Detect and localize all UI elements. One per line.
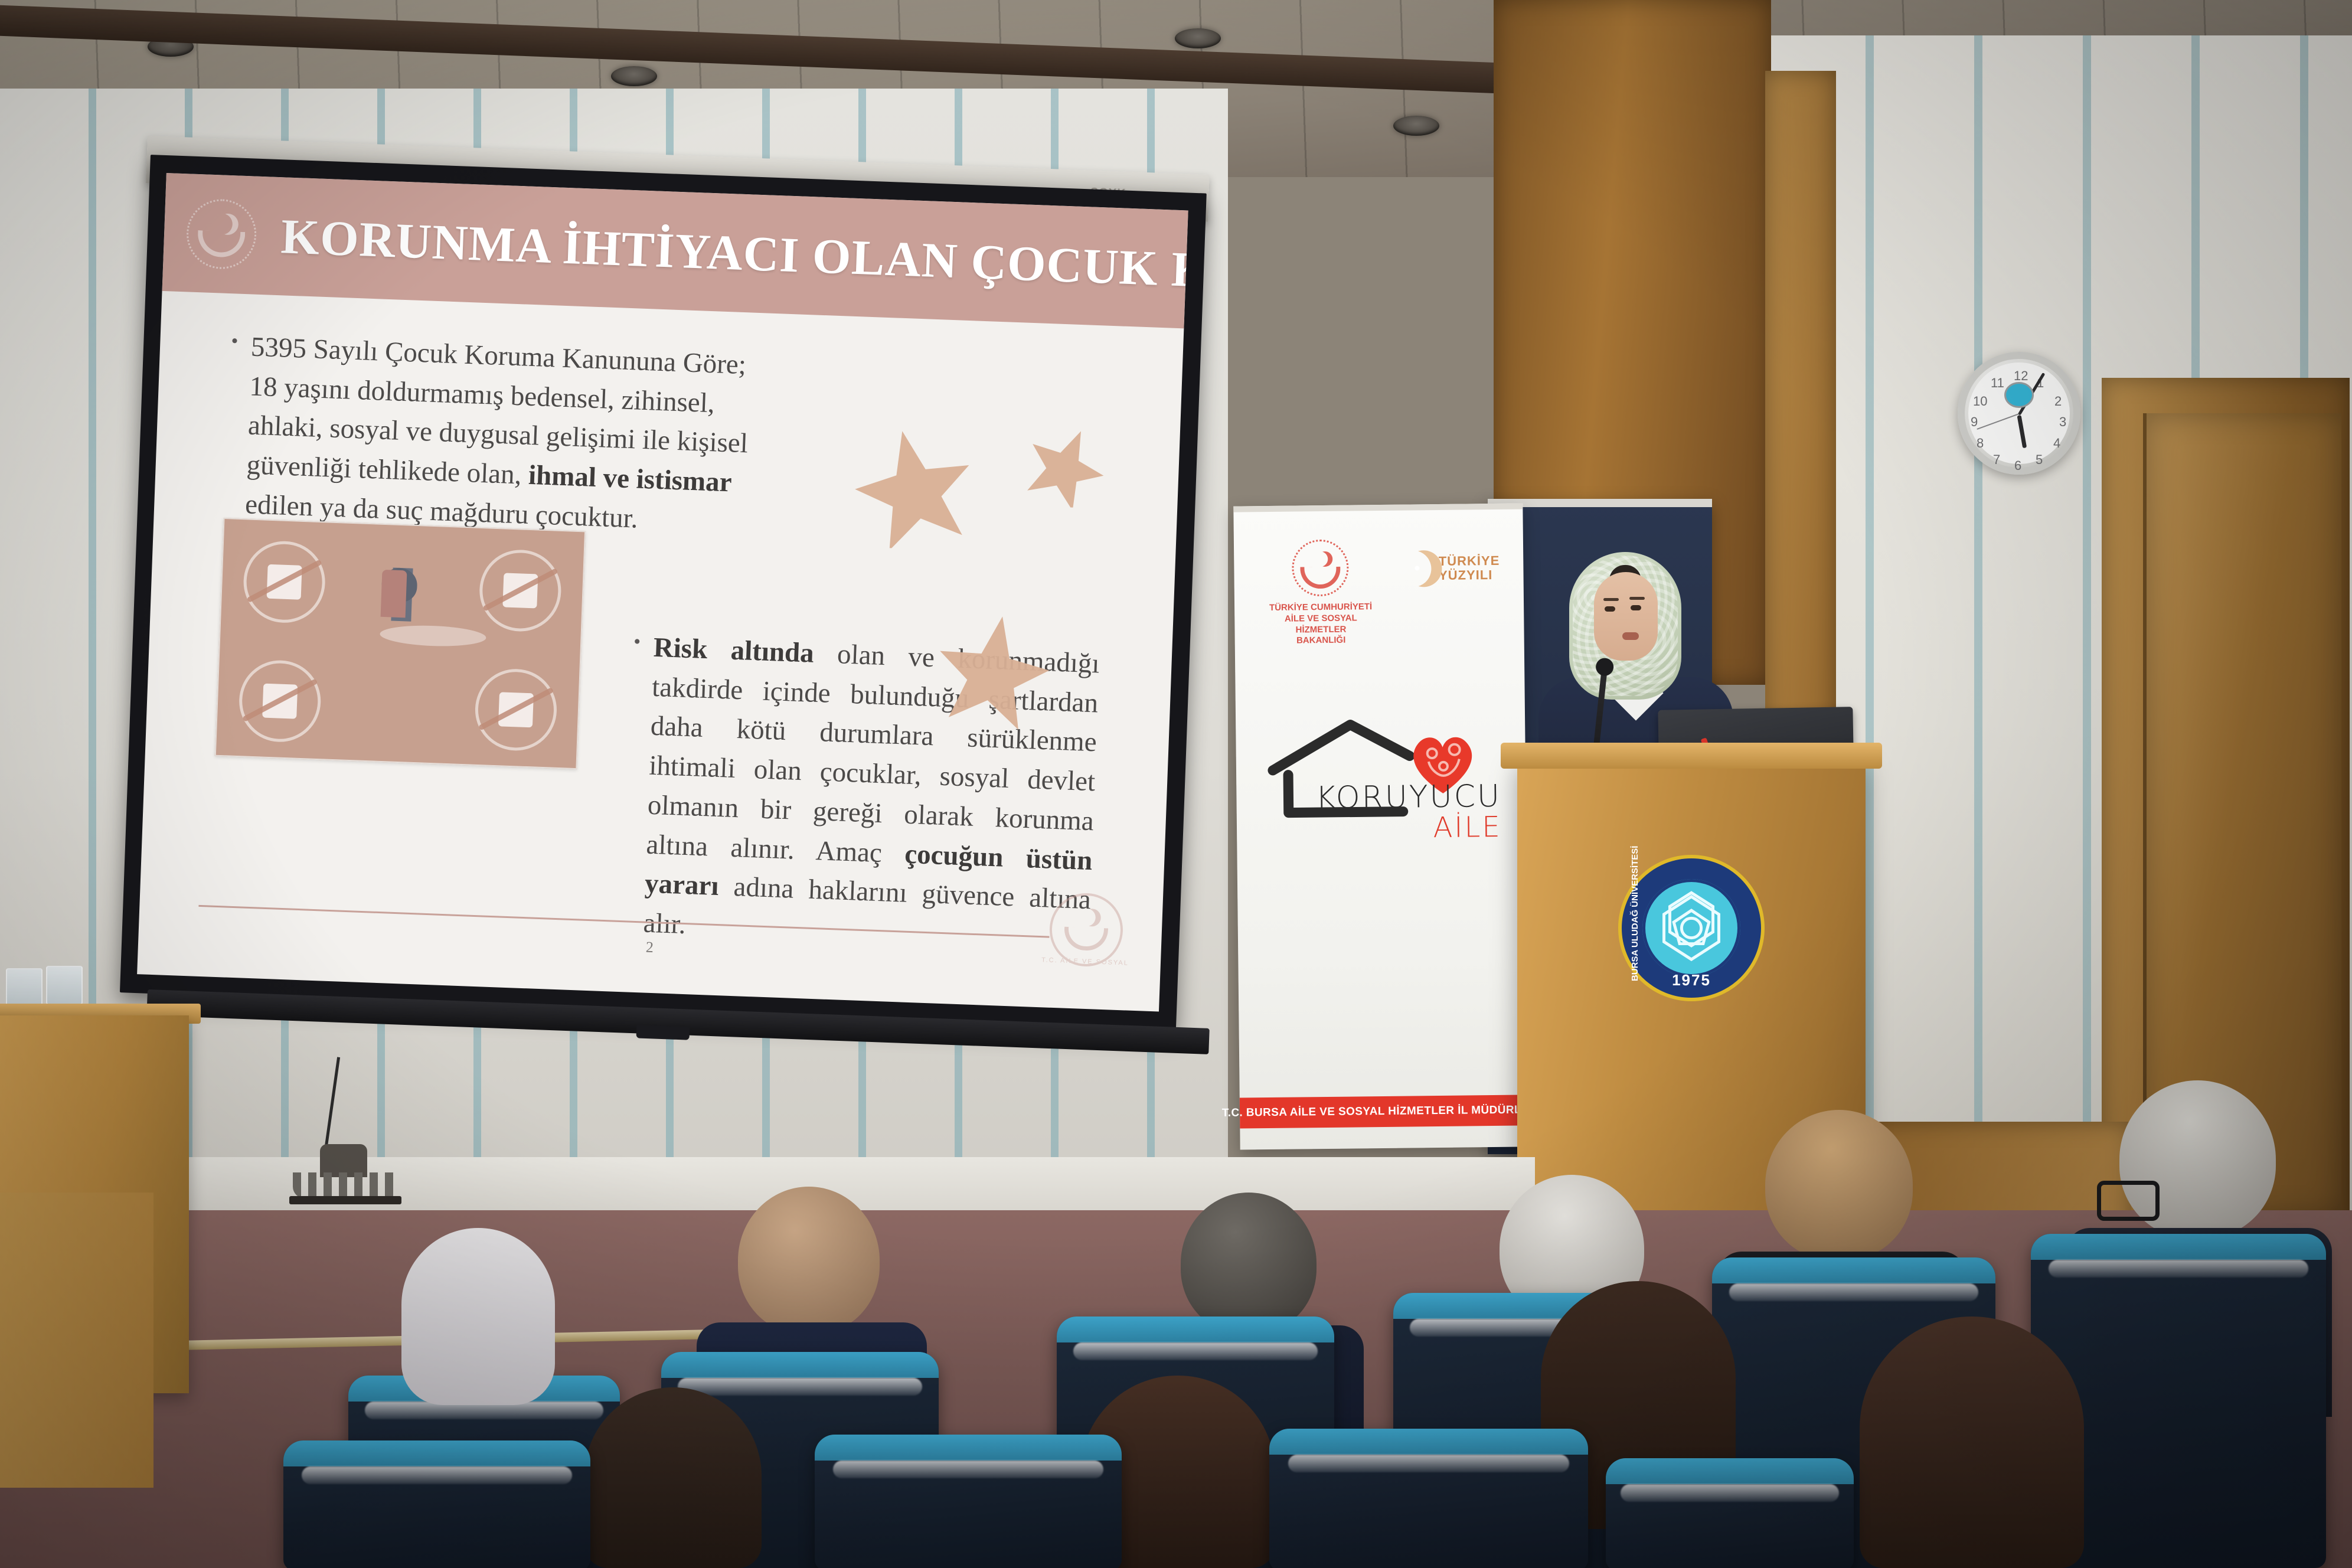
speaker-face bbox=[1594, 572, 1658, 661]
clock-number: 8 bbox=[1977, 436, 1984, 451]
slide-bullet-1: • 5395 Sayılı Çocuk Koruma Kanununa Göre… bbox=[224, 326, 763, 543]
university-seal-rosette bbox=[1642, 879, 1740, 977]
ministry-logo-block: TÜRKİYE CUMHURİYETİ AİLE VE SOSYAL HİZME… bbox=[1261, 539, 1380, 647]
projection-screen: KORUNMA İHTİYACI OLAN ÇOCUK KİMDİR? • 53… bbox=[120, 155, 1207, 1031]
no-violence-icon bbox=[242, 540, 326, 624]
clock-number: 9 bbox=[1971, 414, 1978, 430]
clock-number: 12 bbox=[2014, 368, 2028, 384]
clock-number: 6 bbox=[2014, 458, 2021, 473]
rollup-footer-bar: T.C. BURSA AİLE VE SOSYAL HİZMETLER İL M… bbox=[1240, 1095, 1530, 1128]
no-abuse-icon bbox=[478, 548, 563, 633]
rosette-icon bbox=[1642, 879, 1740, 977]
ministry-seal-icon bbox=[185, 198, 257, 270]
ministry-line-3: BAKANLIĞI bbox=[1262, 635, 1380, 647]
university-founded-year: 1975 bbox=[1672, 971, 1711, 989]
clock-number: 4 bbox=[2053, 436, 2060, 451]
wall-clock: 12 1 2 3 4 5 6 7 8 9 10 11 bbox=[1958, 352, 2080, 475]
ceiling-downlight bbox=[1393, 116, 1439, 136]
audience-head bbox=[1181, 1193, 1317, 1334]
clock-hub bbox=[2004, 382, 2034, 408]
rollup-footer-text: T.C. BURSA AİLE VE SOSYAL HİZMETLER İL M… bbox=[1222, 1103, 1547, 1120]
presentation-slide: KORUNMA İHTİYACI OLAN ÇOCUK KİMDİR? • 53… bbox=[137, 173, 1188, 1012]
ministry-caption: TÜRKİYE CUMHURİYETİ AİLE VE SOSYAL HİZME… bbox=[1262, 602, 1380, 647]
eyeglasses-icon bbox=[2097, 1181, 2160, 1221]
clock-hour-hand bbox=[2017, 415, 2027, 448]
side-table-lower bbox=[0, 1193, 153, 1488]
no-neglect-icon bbox=[473, 668, 558, 752]
wall-sconce-lamp bbox=[289, 1139, 401, 1204]
ministry-line-2: AİLE VE SOSYAL HİZMETLER bbox=[1262, 613, 1380, 636]
starfish-decoration-icon bbox=[1023, 423, 1108, 509]
crescent-moon-icon bbox=[1395, 550, 1432, 587]
auditorium-chair[interactable] bbox=[1606, 1458, 1854, 1568]
clock-number: 7 bbox=[1993, 452, 2000, 468]
clock-number: 10 bbox=[1973, 394, 1987, 409]
speaker-mouth bbox=[1622, 632, 1639, 640]
clock-number: 5 bbox=[2036, 452, 2043, 468]
bullet-marker: • bbox=[224, 331, 239, 524]
slide-page-number: 2 bbox=[645, 939, 654, 956]
podium-top-edge bbox=[1501, 743, 1882, 769]
auditorium-chair[interactable] bbox=[283, 1440, 590, 1568]
glass-tumbler bbox=[6, 968, 43, 1007]
rollup-banner: TÜRKİYE CUMHURİYETİ AİLE VE SOSYAL HİZME… bbox=[1233, 503, 1529, 1149]
koruyucu-aile-logo: KORUYUCU AİLE bbox=[1262, 716, 1499, 854]
university-seal: BURSA ULUDAĞ ÜNİVERSİTESİ 1975 bbox=[1618, 855, 1765, 1001]
audience-head-headscarf bbox=[401, 1228, 555, 1405]
starfish-decoration-icon bbox=[932, 609, 1054, 731]
ministry-line-1: TÜRKİYE CUMHURİYETİ bbox=[1262, 602, 1380, 614]
campaign-line-1: TÜRKİYE bbox=[1439, 554, 1500, 569]
clock-face: 12 1 2 3 4 5 6 7 8 9 10 11 bbox=[1968, 362, 2070, 464]
campaign-logo-block: TÜRKİYE YÜZYILI bbox=[1395, 550, 1500, 587]
glass-tumbler bbox=[46, 966, 83, 1005]
no-labor-icon bbox=[238, 659, 322, 743]
slide-bullet-1-text: 5395 Sayılı Çocuk Koruma Kanununa Göre; … bbox=[244, 327, 763, 543]
university-name: BURSA ULUDAĞ ÜNİVERSİTESİ bbox=[1630, 846, 1640, 981]
clock-second-hand bbox=[1977, 413, 2019, 430]
starfish-decoration-icon bbox=[850, 423, 978, 551]
slide-title: KORUNMA İHTİYACI OLAN ÇOCUK KİMDİR? bbox=[280, 208, 1188, 306]
child-figure-icon bbox=[380, 567, 424, 645]
campaign-line-2: YÜZYILI bbox=[1439, 568, 1500, 583]
clock-number: 11 bbox=[1991, 375, 2004, 391]
audience-head bbox=[1765, 1110, 1913, 1260]
slide-title-band: KORUNMA İHTİYACI OLAN ÇOCUK KİMDİR? bbox=[162, 173, 1188, 328]
bullet-marker: • bbox=[623, 632, 641, 943]
audience-head-longhair bbox=[1860, 1317, 2084, 1568]
clock-number: 2 bbox=[2054, 394, 2062, 409]
audience-head bbox=[738, 1187, 880, 1334]
audience-head-longhair bbox=[584, 1387, 762, 1568]
auditorium-chair[interactable] bbox=[815, 1435, 1122, 1568]
conference-hall-photo: 12 1 2 3 4 5 6 7 8 9 10 11 SGYK bbox=[0, 0, 2352, 1568]
aile-word: AİLE bbox=[1316, 811, 1502, 845]
auditorium-chair[interactable] bbox=[1269, 1429, 1588, 1568]
slide-illustration bbox=[215, 518, 586, 769]
ceiling-downlight bbox=[1175, 28, 1221, 48]
ceiling-downlight bbox=[611, 66, 657, 86]
ministry-seal-icon bbox=[1292, 540, 1349, 597]
clock-number: 3 bbox=[2059, 414, 2066, 430]
